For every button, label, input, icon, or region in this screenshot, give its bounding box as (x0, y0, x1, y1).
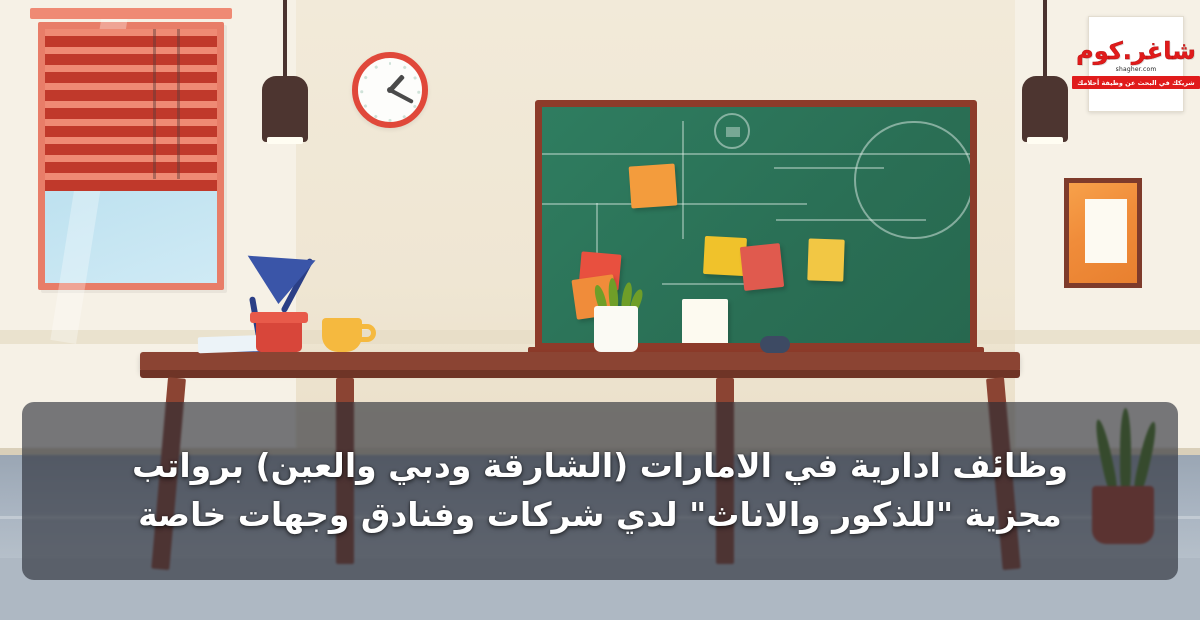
plant-pot (594, 306, 638, 352)
lamp-bulb (267, 137, 303, 144)
clock-tick (363, 76, 366, 79)
blind-slat (45, 54, 217, 65)
picture-art (1085, 199, 1127, 263)
sticky-note (682, 299, 728, 345)
caption-line-2: مجزية "للذكور والاناث" لدي شركات وفنادق … (138, 492, 1062, 539)
coffee-cup (322, 318, 362, 352)
desk-edge (140, 370, 1020, 378)
computer-mouse (760, 336, 790, 353)
blind-gap (45, 65, 217, 72)
clock-center-pin (387, 87, 393, 93)
clock-tick (413, 76, 416, 79)
blind-gap (45, 137, 217, 144)
desk-surface (140, 352, 1020, 372)
clock-tick (374, 65, 377, 68)
logo-brand-text: شاغر.كوم (1076, 39, 1196, 63)
chalk-line (682, 121, 684, 239)
blind-slat (45, 126, 217, 137)
clock-tick (389, 120, 392, 123)
window-valance (30, 8, 232, 19)
caption-line-1: وظائف ادارية في الامارات (الشارقة ودبي و… (132, 443, 1068, 490)
blind-slat (45, 162, 217, 173)
lamp-shade (1022, 76, 1068, 142)
clock-tick (360, 91, 363, 94)
clock-tick (389, 62, 392, 65)
blind-gap (45, 119, 217, 126)
lamp-shade (244, 256, 315, 307)
blind-slat (45, 72, 217, 83)
clock-tick (363, 105, 366, 108)
window-blinds (45, 29, 217, 179)
lamp-shade (262, 76, 308, 142)
sticky-note (629, 163, 678, 208)
chalk-line (662, 283, 752, 285)
blind-gap (45, 173, 217, 180)
blind-slat (45, 144, 217, 155)
wall-picture (1064, 178, 1142, 288)
blind-gap (45, 47, 217, 54)
blind-gap (45, 155, 217, 162)
blind-slat (45, 108, 217, 119)
blind-slat (45, 36, 217, 47)
blind-cord (177, 29, 180, 179)
clock-tick (413, 105, 416, 108)
banner-image: وظائف ادارية في الامارات (الشارقة ودبي و… (0, 0, 1200, 620)
clock-tick (403, 115, 406, 118)
clock-tick (374, 115, 377, 118)
sticky-note (807, 238, 844, 281)
blind-gap (45, 29, 217, 36)
window (38, 22, 224, 290)
blind-cord (153, 29, 156, 179)
sticky-note (740, 243, 784, 291)
caption-overlay: وظائف ادارية في الامارات (الشارقة ودبي و… (22, 402, 1178, 580)
clock-tick (418, 91, 421, 94)
lamp-cord (283, 0, 287, 78)
logo-domain-text: shagher.com (1116, 66, 1157, 73)
red-container-lid (250, 312, 308, 323)
blind-slat (45, 90, 217, 101)
lamp-cord (1043, 0, 1047, 78)
blind-slat (45, 180, 217, 191)
chalk-mark (726, 127, 740, 137)
logo-tagline: شريكك في البحث عن وظيفة أحلامك (1072, 76, 1199, 89)
blind-gap (45, 101, 217, 108)
chalk-loop (854, 121, 974, 239)
site-logo[interactable]: شاغر.كوم shagher.com شريكك في البحث عن و… (1088, 16, 1184, 112)
wall-clock (352, 52, 428, 128)
blind-gap (45, 83, 217, 90)
clock-tick (403, 65, 406, 68)
lamp-bulb (1027, 137, 1063, 144)
red-container (256, 320, 302, 352)
